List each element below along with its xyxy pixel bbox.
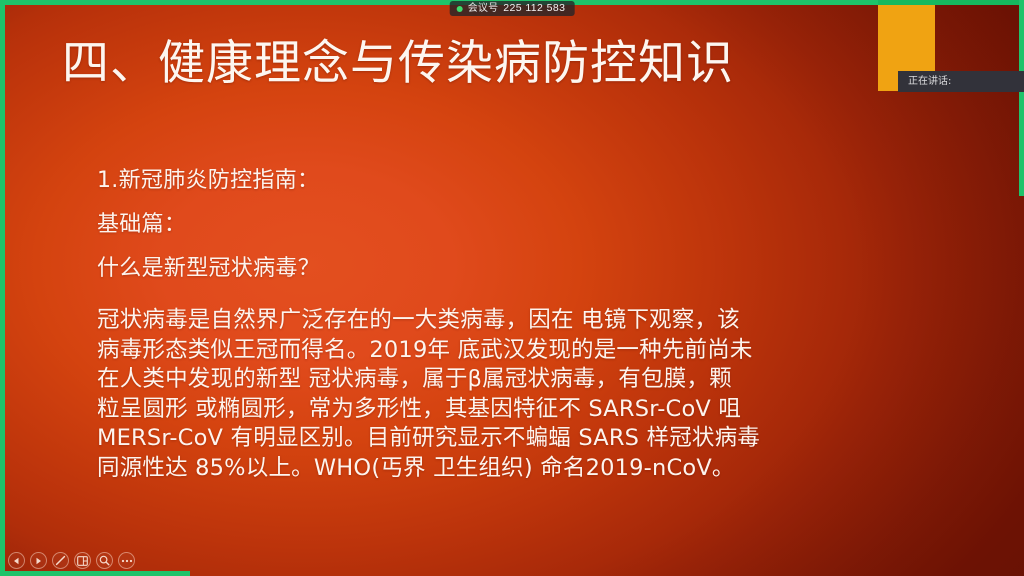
paragraph-line: 冠状病毒是自然界广泛存在的一大类病毒，因在 电镜下观察，该: [97, 306, 887, 336]
all-slides-button[interactable]: [74, 552, 91, 569]
meeting-id-label: 会议号: [468, 4, 499, 14]
paragraph-line: MERSr-CoV 有明显区别。目前研究显示不蝙蝠 SARS 样冠状病毒: [97, 424, 887, 454]
paragraph-line: 粒呈圆形 或椭圆形，常为多形性，其基因特征不 SARSr-CoV 咀: [97, 395, 887, 425]
meeting-id-number: 225 112 583: [503, 3, 565, 14]
paragraph-line: 在人类中发现的新型 冠状病毒，属于β属冠状病毒，有包膜，颗: [97, 365, 887, 395]
slide-heading-3: 什么是新型冠状病毒？: [97, 258, 887, 280]
slide-paragraph: 冠状病毒是自然界广泛存在的一大类病毒，因在 电镜下观察，该 病毒形态类似王冠而得…: [97, 306, 887, 483]
slide-heading-1: 1.新冠肺炎防控指南：: [97, 170, 887, 192]
pen-icon: [55, 555, 66, 566]
grid-icon: [77, 556, 88, 566]
slide-body: 1.新冠肺炎防控指南： 基础篇： 什么是新型冠状病毒？ 冠状病毒是自然界广泛存在…: [97, 170, 887, 483]
speaking-status-tooltip: 正在讲话:: [898, 71, 1024, 92]
meeting-id-pill[interactable]: 会议号 225 112 583: [450, 1, 575, 16]
presentation-share-stage: 会议号 225 112 583 正在讲话: 四、健康理念与传染病防控知识 1.新…: [0, 0, 1024, 576]
speaking-status-label: 正在讲话:: [898, 77, 951, 87]
paragraph-line: 同源性达 85%以上。WHO(丐界 卫生组织) 命名2019-nCoV。: [97, 454, 887, 484]
pen-tool-button[interactable]: [52, 552, 69, 569]
presentation-toolbar: [8, 552, 135, 569]
triangle-right-icon: [35, 557, 42, 565]
ellipsis-icon: [121, 559, 133, 563]
green-status-dot: [457, 6, 463, 12]
triangle-left-icon: [13, 557, 20, 565]
slide-title: 四、健康理念与传染病防控知识: [62, 36, 734, 91]
magnifier-icon: [99, 555, 110, 566]
paragraph-line: 病毒形态类似王冠而得名。2019年 底武汉发现的是一种先前尚未: [97, 336, 887, 366]
more-options-button[interactable]: [118, 552, 135, 569]
participant-video-tile-overlap: [878, 70, 887, 91]
previous-slide-button[interactable]: [8, 552, 25, 569]
zoom-button[interactable]: [96, 552, 113, 569]
next-slide-button[interactable]: [30, 552, 47, 569]
slide-heading-2: 基础篇：: [97, 214, 887, 236]
